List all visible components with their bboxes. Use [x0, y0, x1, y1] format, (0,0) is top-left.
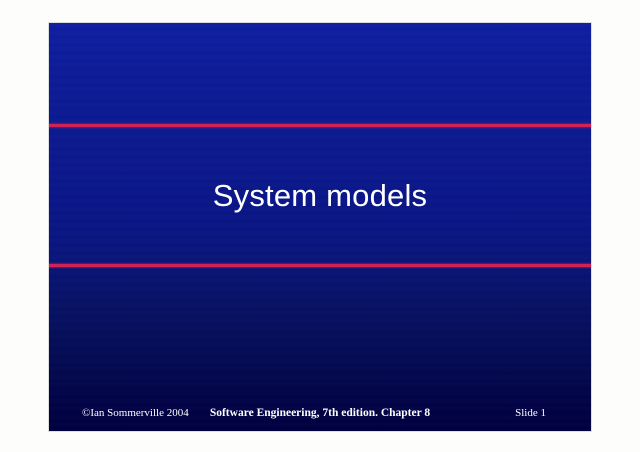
presentation-slide: System models ©Ian Sommerville 2004 Soft… [48, 22, 592, 432]
page-canvas: System models ©Ian Sommerville 2004 Soft… [0, 0, 640, 452]
divider-core [49, 264, 591, 267]
divider-rule-top [49, 122, 591, 129]
divider-rule-bottom [49, 262, 591, 269]
page-title: System models [213, 180, 428, 211]
footer-slide-number: Slide 1 [515, 407, 546, 419]
slide-footer: ©Ian Sommerville 2004 Software Engineeri… [49, 395, 591, 431]
divider-core [49, 124, 591, 127]
title-block: System models [49, 129, 591, 262]
footer-book-reference: Software Engineering, 7th edition. Chapt… [49, 407, 591, 419]
